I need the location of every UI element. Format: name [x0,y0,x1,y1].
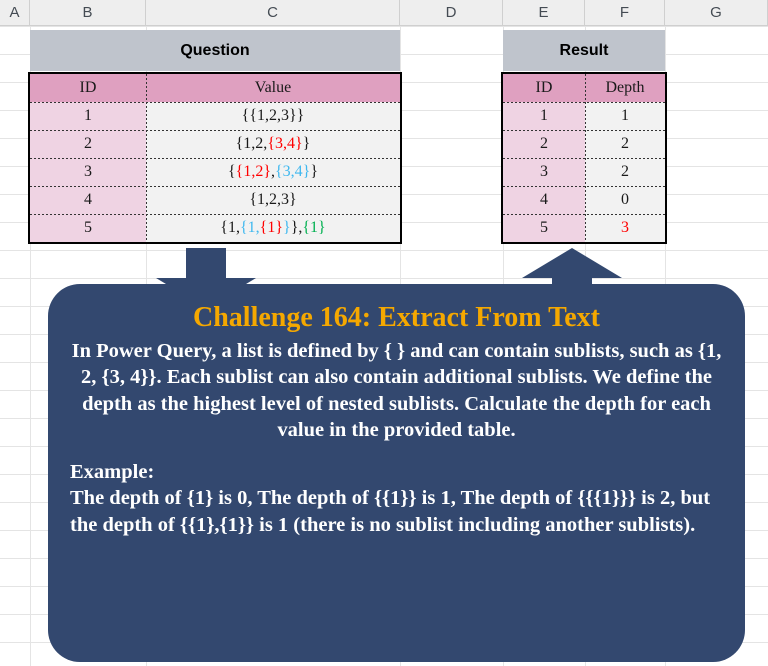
result-cell-depth[interactable]: 2 [585,158,665,186]
question-cell-id[interactable]: 1 [30,102,146,130]
callout-paragraph: In Power Query, a list is defined by { }… [70,338,723,443]
result-cell-depth[interactable]: 3 [585,214,665,242]
value-token: } [310,163,318,181]
question-table-right-border [400,72,402,244]
question-cell-id[interactable]: 4 [30,186,146,214]
value-token: { [228,163,236,181]
column-header-b[interactable]: B [30,0,146,25]
result-table-top-border [503,72,665,74]
value-token: {3,4} [267,135,302,153]
question-cell-id[interactable]: 2 [30,130,146,158]
column-header-g[interactable]: G [665,0,768,25]
grid-row-line [0,278,768,279]
question-cell-id[interactable]: 5 [30,214,146,242]
value-token: } [303,135,311,153]
result-table-bottom-border [503,242,665,244]
result-table-row-divider [503,130,665,131]
result-table-row-divider [503,158,665,159]
result-cell-id[interactable]: 1 [503,102,585,130]
question-cell-value[interactable]: {1,2,{3,4}} [146,130,400,158]
value-token: {1, [240,219,260,237]
question-table-row-divider [30,214,400,215]
spreadsheet-canvas: ABCDEFG Question Result IDValue1{{1,2,3}… [0,0,768,666]
result-cell-depth[interactable]: 2 [585,130,665,158]
result-cell-depth[interactable]: 1 [585,102,665,130]
question-table-top-border [30,72,400,74]
result-table-row-divider [503,102,665,103]
question-band: Question [30,30,400,71]
challenge-callout: Challenge 164: Extract From Text In Powe… [48,284,745,662]
result-cell-id[interactable]: 3 [503,158,585,186]
callout-example-label: Example: [70,459,723,485]
value-token: {1,2} [236,163,271,181]
column-header-f[interactable]: F [585,0,665,25]
result-table-right-border [665,72,667,244]
callout-example-body: The depth of {1} is 0, The depth of {{1}… [70,485,723,537]
value-token: {1} [260,219,283,237]
value-token: {3,4} [275,163,310,181]
grid-row-line [0,26,768,27]
question-header-id: ID [30,74,146,102]
grid-row-line [0,250,768,251]
value-token: {1} [302,219,325,237]
result-header-depth: Depth [585,74,665,102]
question-table-row-divider [30,130,400,131]
result-cell-id[interactable]: 5 [503,214,585,242]
result-cell-id[interactable]: 4 [503,186,585,214]
question-table-row-divider [30,158,400,159]
callout-title: Challenge 164: Extract From Text [70,302,723,334]
question-table-bottom-border [30,242,400,244]
result-table-row-divider [503,186,665,187]
value-token: {1,2,3} [249,191,296,209]
result-table-row-divider [503,214,665,215]
question-table-row-divider [30,102,400,103]
column-header-a[interactable]: A [0,0,30,25]
question-cell-value[interactable]: {{1,2,3}} [146,102,400,130]
question-cell-value[interactable]: {1,{1,{1}}},{1} [146,214,400,242]
result-header-id: ID [503,74,585,102]
column-header-e[interactable]: E [503,0,585,25]
value-token: {{1,2,3}} [242,107,305,125]
value-token: {1,2, [236,135,268,153]
result-cell-id[interactable]: 2 [503,130,585,158]
question-cell-id[interactable]: 3 [30,158,146,186]
column-header-d[interactable]: D [400,0,503,25]
question-header-value: Value [146,74,400,102]
value-token: } [283,219,291,237]
value-token: {1, [220,219,240,237]
result-band: Result [503,30,665,71]
question-cell-value[interactable]: {{1,2},{3,4}} [146,158,400,186]
question-table-row-divider [30,186,400,187]
question-band-label: Question [180,42,249,60]
column-header-c[interactable]: C [146,0,400,25]
result-cell-depth[interactable]: 0 [585,186,665,214]
value-token: } [291,219,299,237]
result-band-label: Result [560,42,609,60]
question-cell-value[interactable]: {1,2,3} [146,186,400,214]
